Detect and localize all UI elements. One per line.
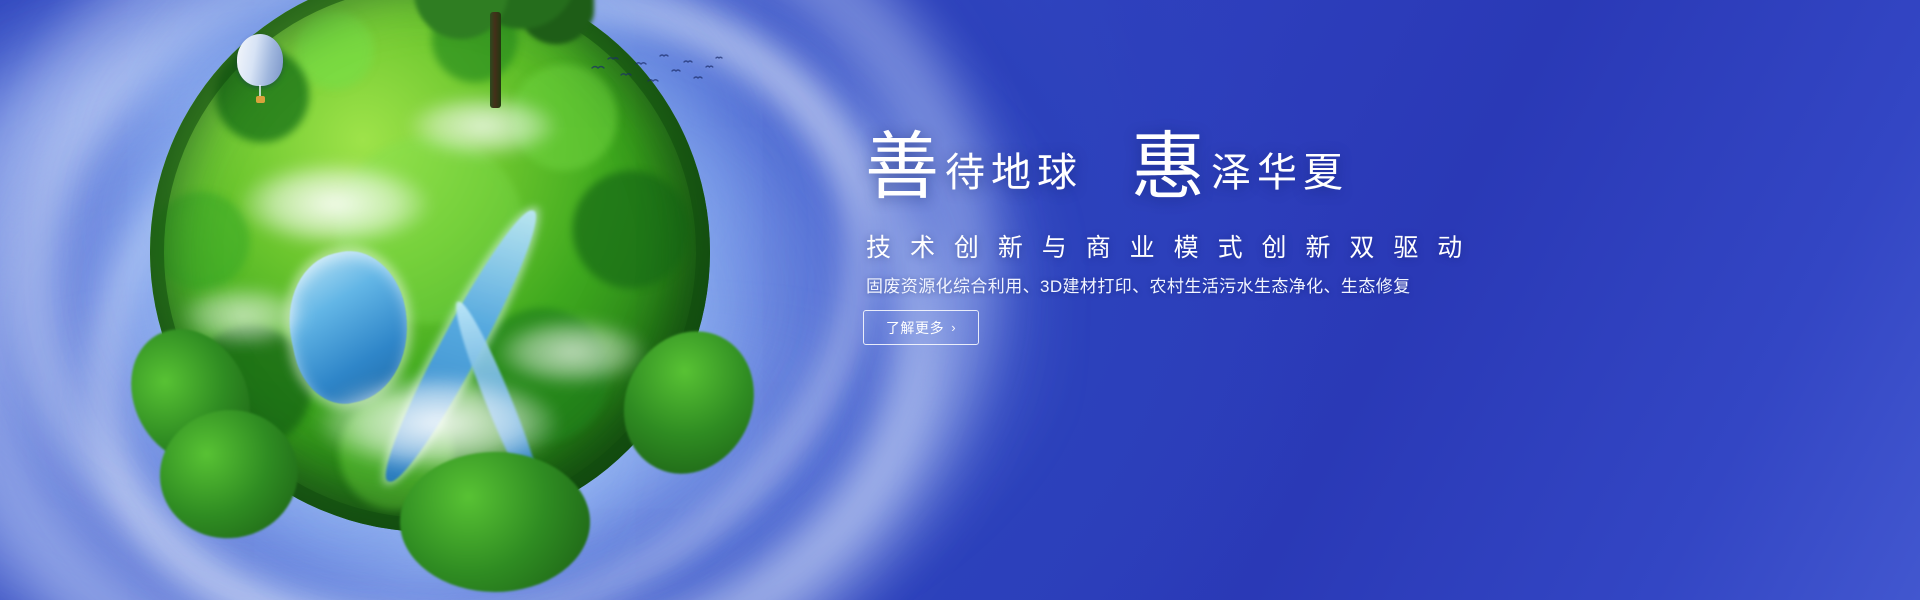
learn-more-label: 了解更多 — [886, 318, 944, 338]
headline-rest-chars-2: 泽华夏 — [1211, 153, 1349, 203]
bird-flock-icon — [588, 50, 728, 94]
hero-banner: 善 待地球 惠 泽华夏 技 术 创 新 与 商 业 模 式 创 新 双 驱 动 … — [0, 0, 1920, 600]
banner-description: 固废资源化综合利用、3D建材打印、农村生活污水生态净化、生态修复 — [866, 272, 1411, 297]
headline-rest-chars-1: 待地球 — [945, 153, 1083, 203]
headline-lead-char-2: 惠 — [1131, 133, 1205, 203]
headline-phrase-1: 善 待地球 — [865, 133, 1083, 203]
banner-copy-block: 善 待地球 惠 泽华夏 技 术 创 新 与 商 业 模 式 创 新 双 驱 动 … — [860, 0, 1560, 600]
balloon-envelope — [237, 34, 283, 86]
balloon-basket — [256, 96, 265, 103]
headline-lead-char-1: 善 — [865, 133, 939, 203]
hot-air-balloon-icon — [237, 34, 283, 106]
headline-phrase-2: 惠 泽华夏 — [1131, 133, 1349, 203]
banner-subtitle: 技 术 创 新 与 商 业 模 式 创 新 双 驱 动 — [866, 228, 1468, 264]
chevron-right-icon: › — [951, 321, 956, 334]
learn-more-button[interactable]: 了解更多 › — [863, 310, 979, 345]
banner-headline: 善 待地球 惠 泽华夏 — [865, 133, 1349, 203]
